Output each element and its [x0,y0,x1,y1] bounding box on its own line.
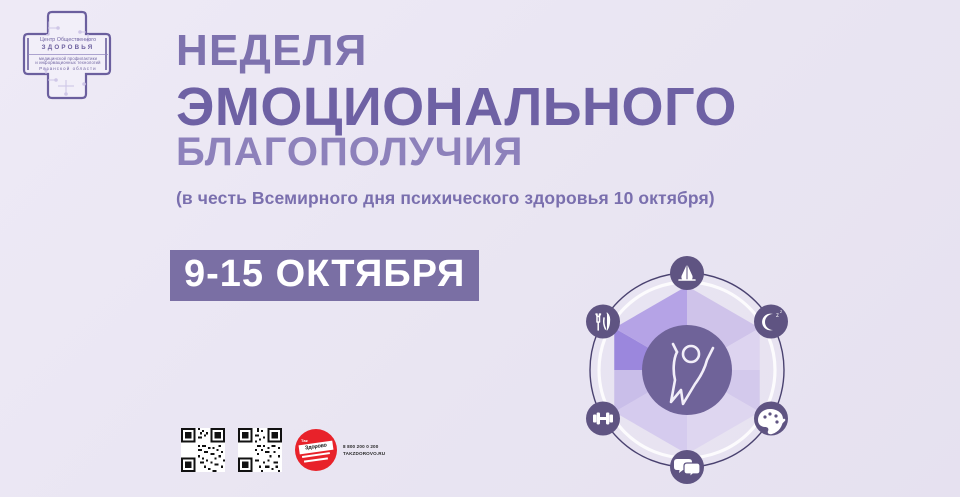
organization-logo: Центр Общественного ЗДОРОВЬЯ медицинской… [18,8,116,104]
logo-line-1: Центр Общественного [26,38,110,43]
wheel-center-disc [642,325,732,415]
communication-badge[interactable] [670,450,704,484]
creativity-badge[interactable] [754,402,788,436]
activity-badge[interactable] [586,402,620,436]
nutrition-badge[interactable] [586,305,620,339]
wellbeing-wheel: z z [573,256,801,484]
logo-text-block: Центр Общественного ЗДОРОВЬЯ медицинской… [26,38,110,71]
heading-line-1: НЕДЕЛЯ [176,26,368,76]
takzdorovo-logo-block: Так Здорово 8 800 200 0 200 TAKZDOROVO.R… [295,429,385,471]
sleep-badge[interactable]: z z [754,305,788,339]
takzdorovo-top-text: Так [301,438,308,443]
logo-line-4: и информационных технологий [26,61,110,65]
poster-canvas: Центр Общественного ЗДОРОВЬЯ медицинской… [0,0,960,497]
qr-code-1[interactable] [181,428,225,472]
footer-logos: Так Здорово 8 800 200 0 200 TAKZDOROVO.R… [181,428,385,472]
contact-site: TAKZDOROVO.RU [343,451,385,456]
logo-divider [28,54,108,55]
takzdorovo-logo-icon: Так Здорово [295,429,337,471]
heading-line-3: БЛАГОПОЛУЧИЯ [176,130,523,175]
meditation-badge[interactable] [670,256,704,290]
contact-phone: 8 800 200 0 200 [343,444,385,449]
takzdorovo-contact: 8 800 200 0 200 TAKZDOROVO.RU [343,444,385,456]
takzdorovo-stripe-2 [304,457,328,463]
poster-subtitle: (в честь Всемирного дня психического здо… [176,188,715,209]
date-badge: 9-15 ОКТЯБРЯ [170,250,479,301]
sleep-z-small: z [776,313,779,319]
logo-line-2: ЗДОРОВЬЯ [26,45,110,52]
logo-line-5: Рязанской области [26,67,110,72]
heading-line-2: ЭМОЦИОНАЛЬНОГО [176,76,737,138]
qr-code-2[interactable] [238,428,282,472]
